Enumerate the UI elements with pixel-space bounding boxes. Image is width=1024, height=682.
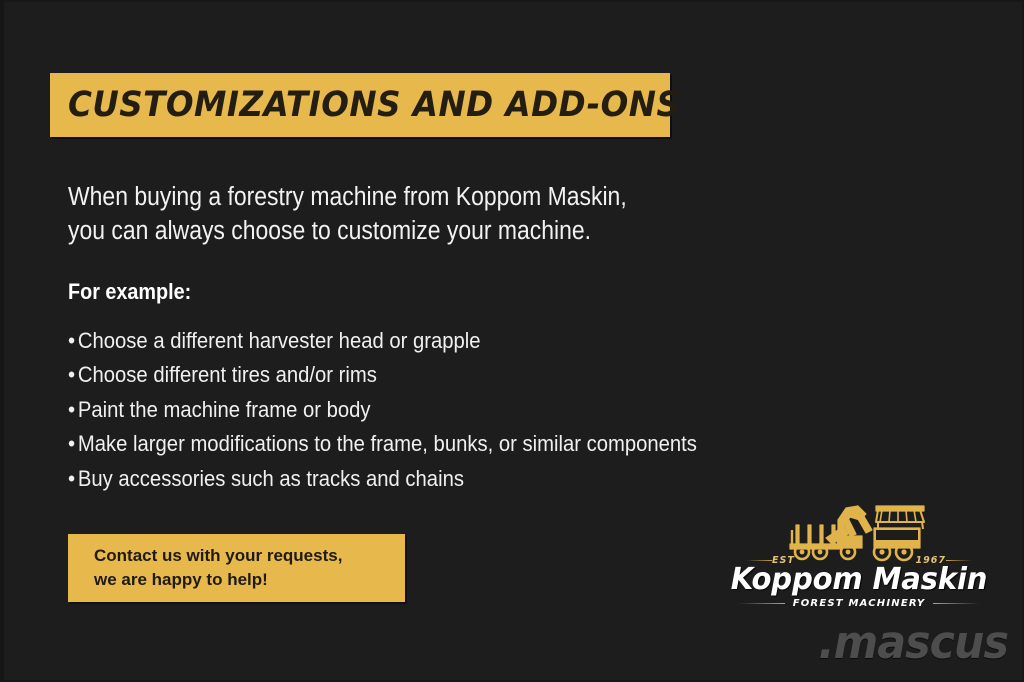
bullet-icon: • — [68, 462, 78, 496]
customization-list: •Choose a different harvester head or gr… — [68, 324, 770, 496]
list-item: •Paint the machine frame or body — [68, 393, 770, 427]
divider-line-left — [746, 560, 772, 561]
intro-paragraph: When buying a forestry machine from Kopp… — [68, 180, 716, 248]
logo-tagline: FOREST MACHINERY — [793, 598, 926, 609]
list-item: •Buy accessories such as tracks and chai… — [68, 462, 770, 496]
koppom-maskin-logo: EST 1967 Koppom Maskin FOREST MACHINERY — [726, 500, 992, 612]
list-item-label: Choose a different harvester head or gra… — [78, 328, 481, 353]
contact-line-2: we are happy to help! — [94, 568, 405, 592]
bullet-icon: • — [68, 427, 78, 461]
list-item: •Make larger modifications to the frame,… — [68, 427, 770, 461]
list-item-label: Buy accessories such as tracks and chain… — [78, 466, 464, 491]
contact-cta-box[interactable]: Contact us with your requests, we are ha… — [68, 534, 405, 602]
list-item-label: Paint the machine frame or body — [78, 397, 371, 422]
logo-tagline-row: FOREST MACHINERY — [738, 598, 980, 609]
contact-line-1: Contact us with your requests, — [94, 544, 405, 568]
bullet-icon: • — [68, 324, 78, 358]
intro-line-2: you can always choose to customize your … — [68, 214, 716, 248]
list-item: •Choose a different harvester head or gr… — [68, 324, 770, 358]
example-label: For example: — [68, 279, 191, 305]
promo-poster: CUSTOMIZATIONS AND ADD-ONS When buying a… — [0, 0, 1024, 682]
tagline-divider-right — [933, 603, 980, 604]
intro-line-1: When buying a forestry machine from Kopp… — [68, 180, 716, 214]
page-title: CUSTOMIZATIONS AND ADD-ONS — [68, 85, 680, 125]
list-item: •Choose different tires and/or rims — [68, 358, 770, 392]
logo-wordmark: Koppom Maskin — [730, 562, 988, 597]
tagline-divider-left — [738, 603, 785, 604]
mascus-watermark: .mascus — [769, 616, 1008, 669]
list-item-label: Make larger modifications to the frame, … — [78, 431, 697, 456]
bullet-icon: • — [68, 358, 78, 392]
bullet-icon: • — [68, 393, 78, 427]
list-item-label: Choose different tires and/or rims — [78, 362, 377, 387]
title-banner: CUSTOMIZATIONS AND ADD-ONS — [50, 73, 670, 137]
divider-line-right — [946, 560, 972, 561]
